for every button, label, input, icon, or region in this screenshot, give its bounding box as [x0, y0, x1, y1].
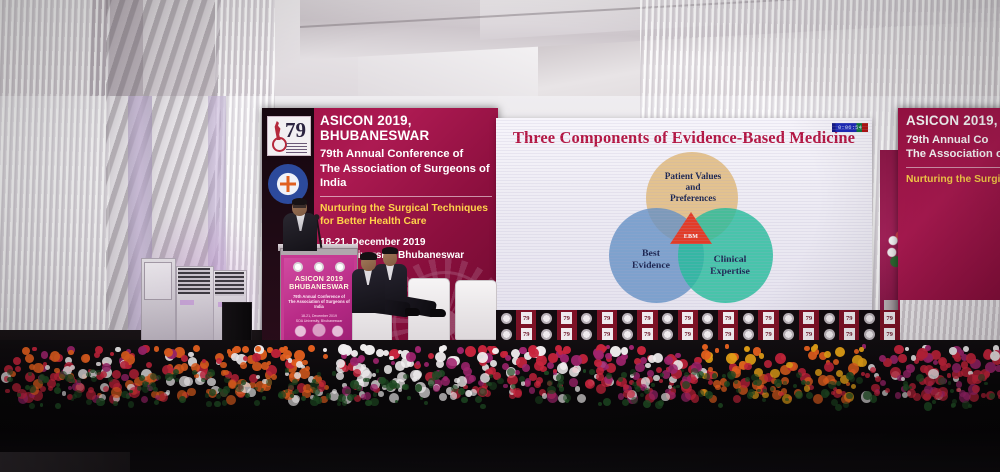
banner-theme-line-1: Nurturing the Surgical Techniques — [320, 202, 492, 215]
flower — [41, 351, 48, 358]
strip-logo-number: 79 — [602, 328, 613, 340]
venn-label-line: and — [650, 183, 736, 194]
flower — [138, 346, 147, 355]
foliage — [556, 374, 564, 382]
flower — [519, 347, 526, 354]
cooler-label — [180, 300, 194, 305]
flower — [373, 358, 379, 364]
foliage — [849, 376, 855, 382]
flower — [529, 387, 535, 393]
flower — [858, 358, 867, 367]
banner-line-1: 79th Annual Conference of — [320, 147, 492, 161]
flower — [159, 393, 168, 402]
flower — [713, 380, 721, 388]
strip-tile-number: 79 — [557, 310, 577, 326]
flower — [635, 363, 645, 373]
foliage — [254, 400, 260, 406]
flower — [256, 375, 260, 379]
flower — [503, 384, 508, 389]
flower — [649, 390, 658, 399]
flower — [271, 374, 277, 380]
strip-tile-number: 79 — [637, 310, 657, 326]
foliage — [235, 384, 244, 393]
strip-logo-number: 79 — [763, 312, 774, 324]
flower — [885, 388, 890, 393]
foliage — [461, 397, 468, 404]
foliage — [751, 374, 758, 381]
flower — [647, 370, 654, 377]
foliage — [206, 401, 212, 407]
foliage — [951, 403, 955, 407]
flower — [470, 389, 477, 396]
flower — [469, 375, 476, 382]
flower — [764, 360, 772, 368]
podium: ASICON 2019 BHUBANESWAR 79th Annual Conf… — [280, 248, 358, 348]
flower — [364, 345, 375, 356]
banner-right-line2: The Association of Surge — [906, 147, 1000, 161]
foliage — [294, 389, 299, 394]
foliage — [821, 389, 829, 397]
flower — [514, 390, 522, 398]
strip-logo-number: 79 — [602, 312, 613, 324]
flower — [972, 385, 980, 393]
flower — [726, 353, 737, 364]
venn-label-line: Clinical — [690, 254, 770, 266]
timer-value: 0:06:54 — [838, 125, 862, 131]
foliage — [722, 374, 727, 379]
foliage — [301, 396, 306, 401]
flower — [383, 350, 389, 356]
venn-label-line: Best — [614, 248, 688, 260]
foliage — [77, 378, 82, 383]
flower — [894, 345, 903, 354]
foliage — [757, 389, 761, 393]
flower — [102, 363, 111, 372]
strip-logo-number: 79 — [521, 312, 532, 324]
foliage — [91, 376, 97, 382]
foliage — [631, 397, 638, 404]
flower — [308, 345, 315, 352]
flower — [675, 353, 680, 358]
strip-tile-number: 79 — [718, 310, 738, 326]
foliage — [373, 392, 378, 397]
flower — [12, 383, 21, 392]
flower — [854, 349, 859, 354]
foliage — [704, 373, 710, 379]
foliage — [796, 372, 802, 378]
flower — [548, 353, 558, 363]
foliage — [223, 386, 231, 394]
flower — [15, 366, 21, 372]
foliage — [86, 399, 92, 405]
venn-center-label: EBM — [670, 234, 712, 240]
foliage — [214, 401, 220, 407]
foliage — [54, 387, 61, 394]
flower — [981, 393, 986, 398]
foliage — [519, 376, 525, 382]
flower — [226, 395, 236, 405]
strip-tile-logo — [536, 310, 556, 326]
speaker-hair — [292, 198, 307, 205]
flower — [596, 384, 606, 394]
flower — [492, 348, 499, 355]
flower — [759, 353, 765, 359]
flower — [818, 375, 829, 386]
flower — [744, 363, 752, 371]
foliage — [475, 396, 482, 403]
flower-bed — [0, 342, 1000, 408]
flower — [505, 355, 511, 361]
foliage — [747, 392, 753, 398]
foliage — [962, 401, 970, 409]
foliage — [658, 400, 665, 407]
flower — [880, 380, 886, 386]
flower — [193, 345, 200, 352]
strip-logo-number: 79 — [723, 312, 734, 324]
strip-logo-icon — [581, 313, 592, 324]
flower — [465, 346, 476, 357]
venn-label-line: Patient Values — [650, 172, 736, 183]
banner-line-2: The Association of Surgeons of India — [320, 162, 492, 190]
banner-right-title: ASICON 2019, BHUBA — [906, 114, 1000, 129]
flower — [255, 346, 261, 352]
foliage — [950, 389, 954, 393]
flower — [870, 367, 876, 373]
banner-right-theme-1: Nurturing the Surgica — [906, 173, 1000, 186]
strip-tile-logo — [738, 310, 758, 326]
foliage — [643, 400, 651, 408]
venn-label-patient-values: Patient Values and Preferences — [650, 172, 736, 205]
venn-diagram: EBM Patient Values and Preferences Best … — [606, 152, 774, 304]
foliage — [142, 381, 148, 387]
flower — [939, 359, 945, 365]
flower — [859, 347, 864, 352]
foliage — [856, 377, 863, 384]
podium-subtitle-line: BHUBANESWAR — [284, 283, 354, 291]
flower — [669, 392, 676, 399]
foliage — [170, 374, 176, 380]
foliage — [95, 370, 101, 376]
flower — [62, 391, 67, 396]
banner-right-line1: 79th Annual Co — [906, 133, 1000, 147]
flower — [824, 351, 831, 358]
flower — [659, 379, 663, 383]
flower — [81, 354, 90, 363]
flower — [851, 384, 856, 389]
flower — [154, 346, 160, 352]
flower — [690, 377, 698, 385]
flower — [50, 351, 61, 362]
foliage — [697, 371, 704, 378]
banner-title: ASICON 2019, BHUBANESWAR — [320, 114, 492, 143]
foliage — [245, 393, 250, 398]
flower — [428, 353, 434, 359]
foliage — [727, 371, 736, 380]
foliage — [288, 383, 295, 390]
foliage — [673, 386, 676, 389]
flower — [623, 384, 629, 390]
flower — [813, 344, 819, 350]
flower — [577, 394, 586, 403]
foliage — [724, 381, 730, 387]
foliage — [583, 369, 587, 373]
cooler-grille — [178, 268, 210, 294]
flower — [351, 350, 358, 357]
flower — [378, 391, 384, 397]
foliage — [216, 394, 221, 399]
foliage — [403, 374, 409, 380]
strip-logo-icon — [864, 329, 875, 340]
flower — [441, 377, 451, 387]
foliage — [39, 374, 45, 380]
strip-logo-icon — [541, 313, 552, 324]
foliage — [989, 393, 995, 399]
foliage — [903, 384, 909, 390]
flower — [435, 352, 446, 363]
foliage — [428, 378, 435, 385]
venn-label-line: Evidence — [614, 260, 688, 272]
speaker-glasses — [293, 205, 306, 208]
foliage — [222, 400, 227, 405]
strip-logo-icon — [824, 329, 835, 340]
foliage — [96, 398, 105, 407]
flower — [112, 370, 121, 379]
foliage — [154, 400, 159, 405]
strip-logo-icon — [864, 313, 875, 324]
foliage — [262, 396, 266, 400]
flower — [775, 353, 786, 364]
foliage — [480, 404, 485, 409]
foliage — [326, 393, 331, 398]
foliage — [72, 379, 76, 383]
flower — [708, 367, 713, 372]
strip-logo-number: 79 — [682, 328, 693, 340]
flower — [905, 347, 909, 351]
foreground-dark — [0, 430, 1000, 472]
foliage — [390, 383, 395, 388]
flower — [645, 363, 651, 369]
strip-logo-number: 79 — [803, 312, 814, 324]
podium-logo-icon — [314, 262, 324, 272]
flower — [933, 360, 938, 365]
flower — [358, 355, 366, 363]
strip-logo-icon — [541, 329, 552, 340]
foliage — [29, 403, 35, 409]
strip-logo-number: 79 — [884, 328, 895, 340]
foliage — [836, 381, 842, 387]
flower — [50, 373, 58, 381]
foliage — [218, 388, 223, 393]
floor-edge — [0, 452, 130, 472]
foliage — [806, 392, 813, 399]
foliage — [770, 387, 774, 391]
flower — [804, 346, 810, 352]
foliage — [458, 388, 465, 395]
strip-logo-icon — [662, 313, 673, 324]
flower — [629, 345, 634, 350]
strip-logo-number: 79 — [884, 312, 895, 324]
flower — [457, 347, 465, 355]
flower — [323, 348, 327, 352]
flower — [949, 347, 957, 355]
foliage — [407, 396, 411, 400]
strip-tile-number: 79 — [678, 310, 698, 326]
flower — [223, 370, 228, 375]
foliage — [640, 393, 644, 397]
foliage — [606, 373, 612, 379]
strip-tile-logo — [577, 310, 597, 326]
foliage — [932, 400, 936, 404]
strip-tile-logo — [617, 310, 637, 326]
flower — [681, 392, 691, 402]
foliage — [622, 399, 629, 406]
stage-logo-strip: 7979797979797979797979797979797979797979 — [496, 310, 900, 342]
foliage — [40, 403, 44, 407]
foliage — [121, 391, 129, 399]
flower — [585, 379, 596, 390]
banner-theme-line-2: for Better Health Care — [320, 215, 492, 228]
flower — [179, 376, 190, 387]
strip-logo-icon — [783, 329, 794, 340]
flower — [956, 381, 963, 388]
podium-front-panel: ASICON 2019 BHUBANESWAR 79th Annual Conf… — [284, 258, 354, 344]
flower — [289, 373, 295, 379]
foliage — [356, 385, 362, 391]
foliage — [603, 398, 612, 407]
strip-logo-number: 79 — [642, 328, 653, 340]
flower — [560, 362, 567, 369]
foliage — [793, 384, 797, 388]
foliage — [846, 393, 852, 399]
flower — [906, 364, 915, 373]
foliage — [843, 402, 849, 408]
foliage — [479, 388, 487, 396]
foliage — [205, 393, 210, 398]
foliage — [113, 401, 118, 406]
conference-stage-photo: ASICON 2019, BHUBA 79th Annual Co The As… — [0, 0, 1000, 472]
foliage — [870, 395, 877, 402]
foliage — [621, 372, 627, 378]
foliage — [424, 401, 428, 405]
strip-tile-number: 79 — [597, 310, 617, 326]
flower — [715, 348, 720, 353]
flower — [68, 350, 74, 356]
banner-right-divider — [906, 167, 1000, 168]
flower — [271, 349, 280, 358]
venn-label-line: Preferences — [650, 194, 736, 205]
flower — [895, 392, 902, 399]
flower — [917, 348, 928, 359]
foliage — [376, 369, 380, 373]
strip-logo-number: 79 — [844, 328, 855, 340]
podium-logo-row — [288, 260, 350, 273]
strip-logo-number: 79 — [561, 328, 572, 340]
strip-logo-icon — [743, 313, 754, 324]
foliage — [90, 369, 94, 373]
flower — [353, 369, 361, 377]
flower — [252, 362, 261, 371]
flower — [725, 344, 730, 349]
flower — [446, 358, 457, 369]
flower — [804, 385, 811, 392]
flower — [410, 370, 421, 381]
foliage — [630, 369, 636, 375]
strip-tile-logo — [496, 310, 516, 326]
foliage — [316, 397, 322, 403]
foliage — [598, 402, 602, 406]
flower — [302, 360, 308, 366]
strip-tile-number: 79 — [880, 310, 900, 326]
flower — [406, 352, 416, 362]
foliage — [978, 374, 985, 381]
banner-right-date: 18-21, De — [906, 207, 1000, 221]
flower — [283, 346, 288, 351]
foliage — [632, 382, 637, 387]
foliage — [712, 373, 718, 379]
flower — [831, 391, 835, 395]
strip-logo-icon — [783, 313, 794, 324]
flower — [521, 381, 525, 385]
cooler-grille — [215, 272, 244, 296]
guest-shoe — [405, 308, 420, 316]
foliage — [651, 383, 655, 387]
cooler-panel — [144, 262, 172, 300]
foliage — [938, 377, 946, 385]
flower — [25, 354, 34, 363]
logo-caption — [286, 143, 307, 153]
flower — [733, 395, 742, 404]
strip-logo-icon — [702, 329, 713, 340]
flower — [779, 392, 783, 396]
foliage — [56, 383, 60, 387]
flower — [947, 373, 952, 378]
strip-logo-number: 79 — [521, 328, 532, 340]
banner-divider — [320, 196, 492, 197]
flower — [439, 393, 447, 401]
foliage — [547, 386, 555, 394]
guest-hair — [360, 252, 377, 260]
flower — [110, 352, 114, 356]
strip-logo-icon — [622, 329, 633, 340]
strip-logo-number: 79 — [844, 312, 855, 324]
venn-label-clinical-expertise: Clinical Expertise — [690, 254, 770, 277]
foliage — [420, 397, 424, 401]
flower — [995, 365, 1000, 372]
foliage — [179, 396, 186, 403]
logo-number: 79 — [285, 120, 306, 141]
flower — [68, 386, 72, 390]
strip-logo-icon — [743, 329, 754, 340]
flower — [594, 350, 604, 360]
flower — [240, 362, 247, 369]
foliage — [565, 399, 569, 403]
slide-title: Three Components of Evidence-Based Medic… — [496, 128, 872, 148]
foliage — [948, 381, 952, 385]
foliage — [153, 387, 158, 392]
flower — [441, 345, 447, 351]
flower — [115, 347, 120, 352]
flower — [637, 346, 646, 355]
venn-label-line: Expertise — [690, 266, 770, 278]
flower — [95, 346, 103, 354]
flower — [181, 355, 188, 362]
flower — [13, 357, 21, 365]
strip-tile-logo — [698, 310, 718, 326]
foliage — [402, 384, 408, 390]
strip-logo-icon — [501, 329, 512, 340]
strip-logo-icon — [501, 313, 512, 324]
strip-logo-icon — [581, 329, 592, 340]
